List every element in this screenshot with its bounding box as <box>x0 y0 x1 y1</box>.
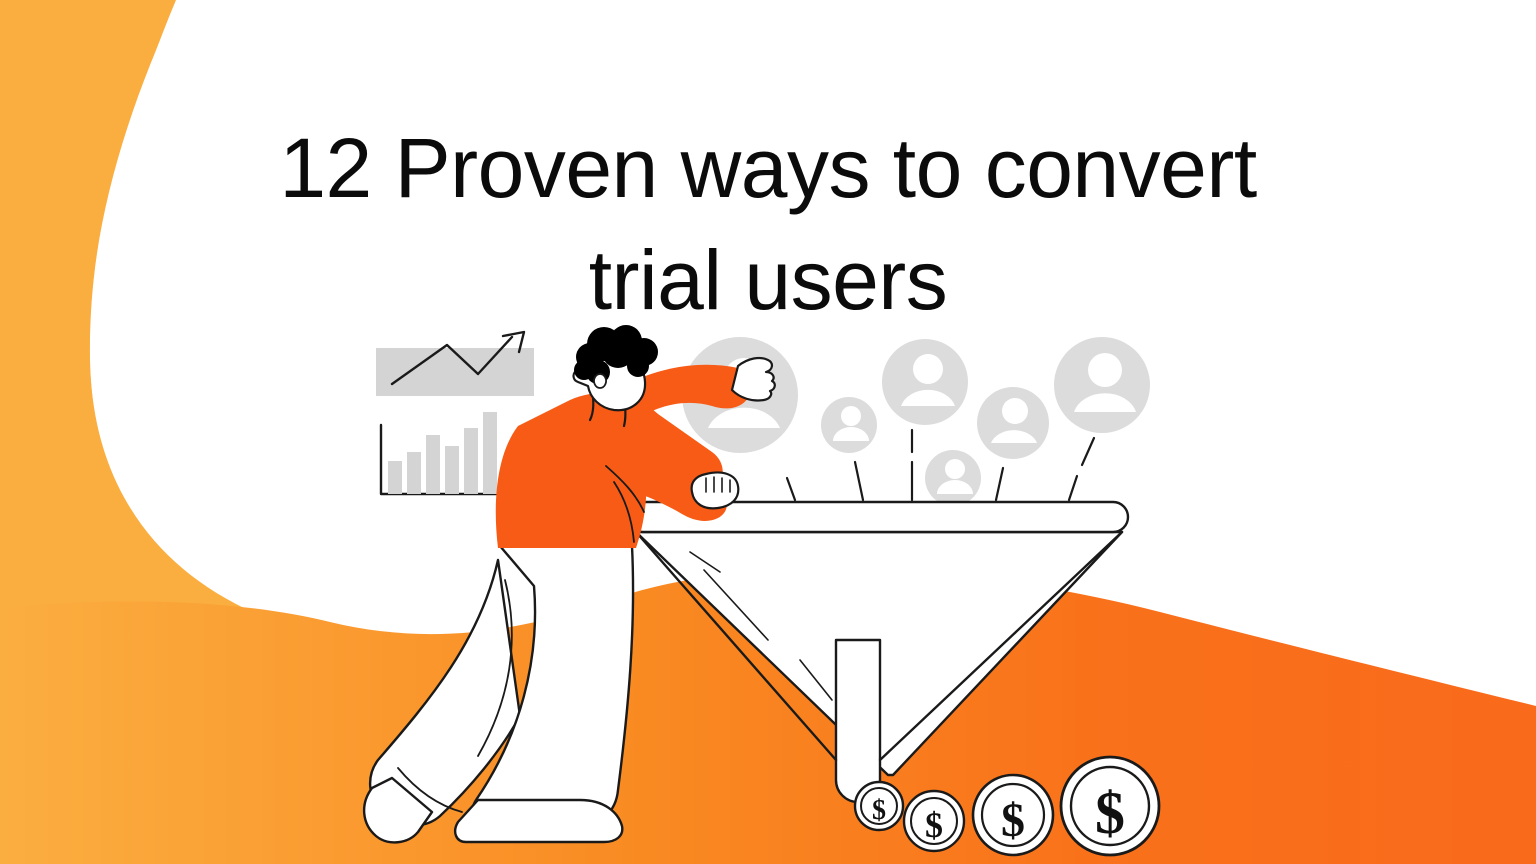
coin-group: $ $ $ $ <box>855 757 1159 855</box>
conversion-funnel-illustration: $ $ $ $ <box>0 0 1536 864</box>
user-avatar-5 <box>977 387 1049 459</box>
svg-text:$: $ <box>925 805 943 845</box>
user-avatar-6 <box>1054 337 1150 433</box>
svg-text:$: $ <box>1095 780 1125 846</box>
growth-line-chart <box>376 332 534 396</box>
coin-2: $ <box>904 791 964 851</box>
growth-bar-chart <box>381 412 500 494</box>
svg-text:$: $ <box>872 795 886 826</box>
person-fist <box>692 473 739 509</box>
coin-1: $ <box>855 782 903 830</box>
user-avatar-4 <box>925 450 981 506</box>
user-avatar-3 <box>882 339 968 425</box>
user-avatar-2 <box>821 397 877 453</box>
conversion-funnel <box>628 502 1128 802</box>
coin-4: $ <box>1061 757 1159 855</box>
slide-canvas: $ $ $ $ <box>0 0 1536 864</box>
person-front-shoe <box>455 800 622 842</box>
svg-text:$: $ <box>1001 794 1025 847</box>
person-open-hand <box>732 358 775 401</box>
coin-3: $ <box>973 775 1053 855</box>
